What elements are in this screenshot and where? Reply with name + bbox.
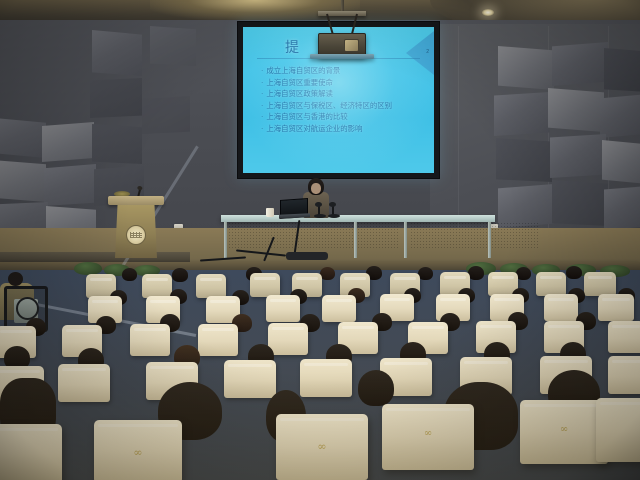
microphone-base: [328, 214, 340, 218]
acoustic-panel: [604, 186, 640, 230]
seat: [142, 274, 172, 298]
audience-head: [320, 267, 335, 280]
acoustic-panel: [42, 122, 94, 162]
seat: [596, 398, 640, 462]
table-leg: [404, 222, 407, 258]
seat: ∞: [520, 400, 608, 464]
acoustic-panel: [498, 46, 554, 90]
seat: [268, 323, 308, 355]
acoustic-panel: [90, 78, 142, 118]
acoustic-panel: [92, 30, 142, 76]
slide-page-number: 2: [426, 49, 429, 55]
lectern-body: [115, 205, 157, 258]
acoustic-panel: [552, 180, 608, 226]
table-modesty-panel: [410, 222, 540, 250]
acoustic-panel: [92, 124, 142, 164]
recessed-downlight: [482, 9, 494, 16]
seat-emblem: ∞: [424, 428, 432, 439]
acoustic-panel: [494, 92, 550, 136]
lectern: [108, 196, 164, 258]
seat: [544, 294, 578, 321]
slide-bullet-list: 成立上海自贸区的背景 上海自贸区重要使命 上海自贸区政策解读 上海自贸区与保税区…: [261, 65, 429, 135]
drinking-cup: [266, 208, 274, 217]
seat: [608, 321, 640, 353]
seat: [198, 324, 238, 356]
acoustic-panel: [602, 140, 640, 184]
seat: [58, 364, 110, 402]
seat: [196, 274, 226, 298]
seat: [584, 272, 616, 296]
acoustic-panel: [600, 94, 640, 138]
slide-bullet: 上海自贸区与香港的比较: [261, 111, 429, 123]
microphone-base: [314, 214, 326, 218]
projector-lens: [344, 39, 359, 52]
slide-bullet: 上海自贸区对航运企业的影响: [261, 123, 429, 135]
acoustic-panel: [44, 164, 96, 206]
acoustic-panel: [550, 134, 606, 178]
acoustic-panel: [496, 138, 552, 182]
seat: [300, 359, 352, 397]
acoustic-panel: [548, 88, 604, 132]
audience-head: [122, 268, 137, 281]
seat: [598, 294, 634, 321]
seat: [130, 324, 170, 356]
acoustic-panel: [150, 26, 196, 66]
table-leg: [354, 222, 357, 258]
attendee-head: [8, 272, 23, 286]
seat: [0, 424, 62, 480]
slide-bullet: 成立上海自贸区的背景: [261, 65, 429, 77]
seat: [224, 360, 276, 398]
acoustic-panel: [0, 118, 46, 158]
seat: [608, 356, 640, 394]
audience-head: [358, 370, 394, 406]
seat-emblem: ∞: [133, 446, 142, 459]
projector-shelf: [310, 54, 374, 59]
audience-head: [516, 267, 531, 280]
lecture-hall-photo: 2 提 成立上海自贸区的背景 上海自贸区重要使命 上海自贸区政策解读 上海自贸区…: [0, 0, 640, 480]
seat: ∞: [94, 420, 182, 480]
seat: [536, 272, 566, 296]
lectern-crest-icon: [126, 225, 146, 245]
acoustic-panel: [552, 42, 608, 86]
slide-title: 提: [285, 37, 301, 57]
acoustic-panel: [0, 160, 46, 202]
table-modesty-panel: [228, 222, 398, 250]
floor-cable-cover: [286, 252, 328, 260]
slide-bullet: 上海自贸区与保税区、经济特区的区别: [261, 100, 429, 112]
table-leg: [488, 222, 491, 258]
presenter-face: [311, 183, 321, 194]
acoustic-panel: [142, 96, 190, 134]
presenter-table: [221, 215, 495, 222]
audience-head: [468, 266, 484, 280]
seat: [322, 295, 356, 322]
slide-bullet: 上海自贸区政策解读: [261, 88, 429, 100]
seat: [250, 273, 280, 297]
seat-emblem: ∞: [560, 424, 568, 435]
table-leg: [224, 222, 227, 258]
slide-bullet: 上海自贸区重要使命: [261, 77, 429, 89]
audience-head: [172, 268, 188, 282]
lectern-top: [108, 196, 164, 205]
seat-emblem: ∞: [317, 440, 326, 453]
acoustic-panel: [604, 48, 640, 92]
cart-wheel: [16, 297, 39, 320]
audience-head: [566, 266, 582, 279]
audience-head: [418, 267, 433, 280]
seat: ∞: [276, 414, 368, 480]
seat: [266, 295, 300, 322]
seat: ∞: [382, 404, 474, 470]
